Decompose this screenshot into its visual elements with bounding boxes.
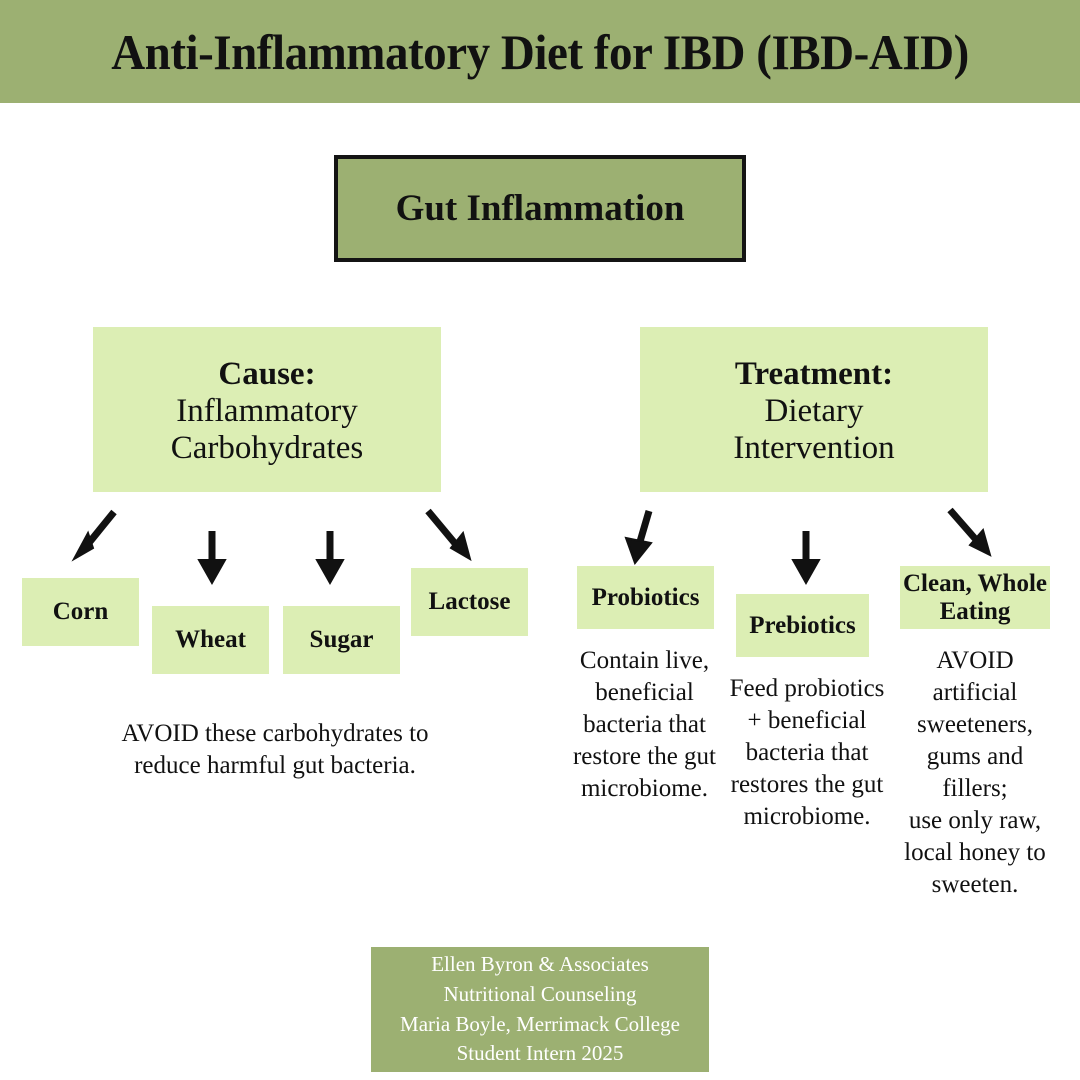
footer-line-4: Student Intern 2025 — [457, 1039, 624, 1069]
leaf-node-wheat: Wheat — [152, 606, 269, 674]
arrow-to-lactose-icon — [418, 503, 488, 573]
footer-line-1: Ellen Byron & Associates — [431, 950, 649, 980]
leaf-node-lactose: Lactose — [411, 568, 528, 636]
branch-node-treatment: Treatment: Dietary Intervention — [640, 327, 988, 492]
branch-treatment-line1: Dietary — [765, 393, 864, 430]
leaf-wheat-label: Wheat — [175, 626, 246, 654]
arrow-to-corn-icon — [62, 503, 132, 573]
arrow-to-prebiotics-icon — [786, 527, 828, 589]
footer-credit-block: Ellen Byron & Associates Nutritional Cou… — [371, 947, 709, 1072]
root-node-gut-inflammation: Gut Inflammation — [334, 155, 746, 262]
cause-caption: AVOID these carbohydrates to reduce harm… — [40, 718, 510, 782]
leaf-probiotics-label: Probiotics — [592, 584, 700, 612]
leaf-corn-label: Corn — [53, 598, 109, 626]
title-banner: Anti-Inflammatory Diet for IBD (IBD-AID) — [0, 0, 1080, 103]
root-node-label: Gut Inflammation — [396, 187, 685, 230]
leaf-lactose-label: Lactose — [429, 588, 511, 616]
footer-line-2: Nutritional Counseling — [443, 980, 636, 1010]
leaf-node-prebiotics: Prebiotics — [736, 594, 869, 657]
page-title: Anti-Inflammatory Diet for IBD (IBD-AID) — [32, 0, 1047, 103]
footer-line-3: Maria Boyle, Merrimack College — [400, 1010, 680, 1040]
leaf-sugar-label: Sugar — [310, 626, 374, 654]
prebiotics-caption: Feed probiotics + beneficial bacteria th… — [722, 673, 892, 833]
branch-node-cause: Cause: Inflammatory Carbohydrates — [93, 327, 441, 492]
branch-treatment-line2: Intervention — [733, 430, 894, 467]
arrow-to-wheat-icon — [192, 527, 234, 589]
arrow-to-clean-whole-eating-icon — [938, 500, 1008, 570]
arrow-to-probiotics-icon — [618, 507, 670, 569]
branch-treatment-heading: Treatment: — [735, 356, 893, 393]
branch-cause-heading: Cause: — [218, 356, 315, 393]
clean-whole-eating-caption: AVOID artificial sweeteners, gums and fi… — [891, 645, 1059, 901]
branch-cause-line1: Inflammatory — [176, 393, 357, 430]
leaf-node-sugar: Sugar — [283, 606, 400, 674]
arrow-to-sugar-icon — [310, 527, 352, 589]
branch-cause-line2: Carbohydrates — [171, 430, 363, 467]
leaf-prebiotics-label: Prebiotics — [749, 612, 855, 640]
leaf-clean-whole-eating-label-line1: Clean, Whole — [903, 570, 1047, 598]
leaf-clean-whole-eating-label-line2: Eating — [940, 598, 1011, 626]
leaf-node-corn: Corn — [22, 578, 139, 646]
probiotics-caption: Contain live, beneficial bacteria that r… — [557, 645, 732, 805]
leaf-node-probiotics: Probiotics — [577, 566, 714, 629]
leaf-node-clean-whole-eating: Clean, Whole Eating — [900, 566, 1050, 629]
